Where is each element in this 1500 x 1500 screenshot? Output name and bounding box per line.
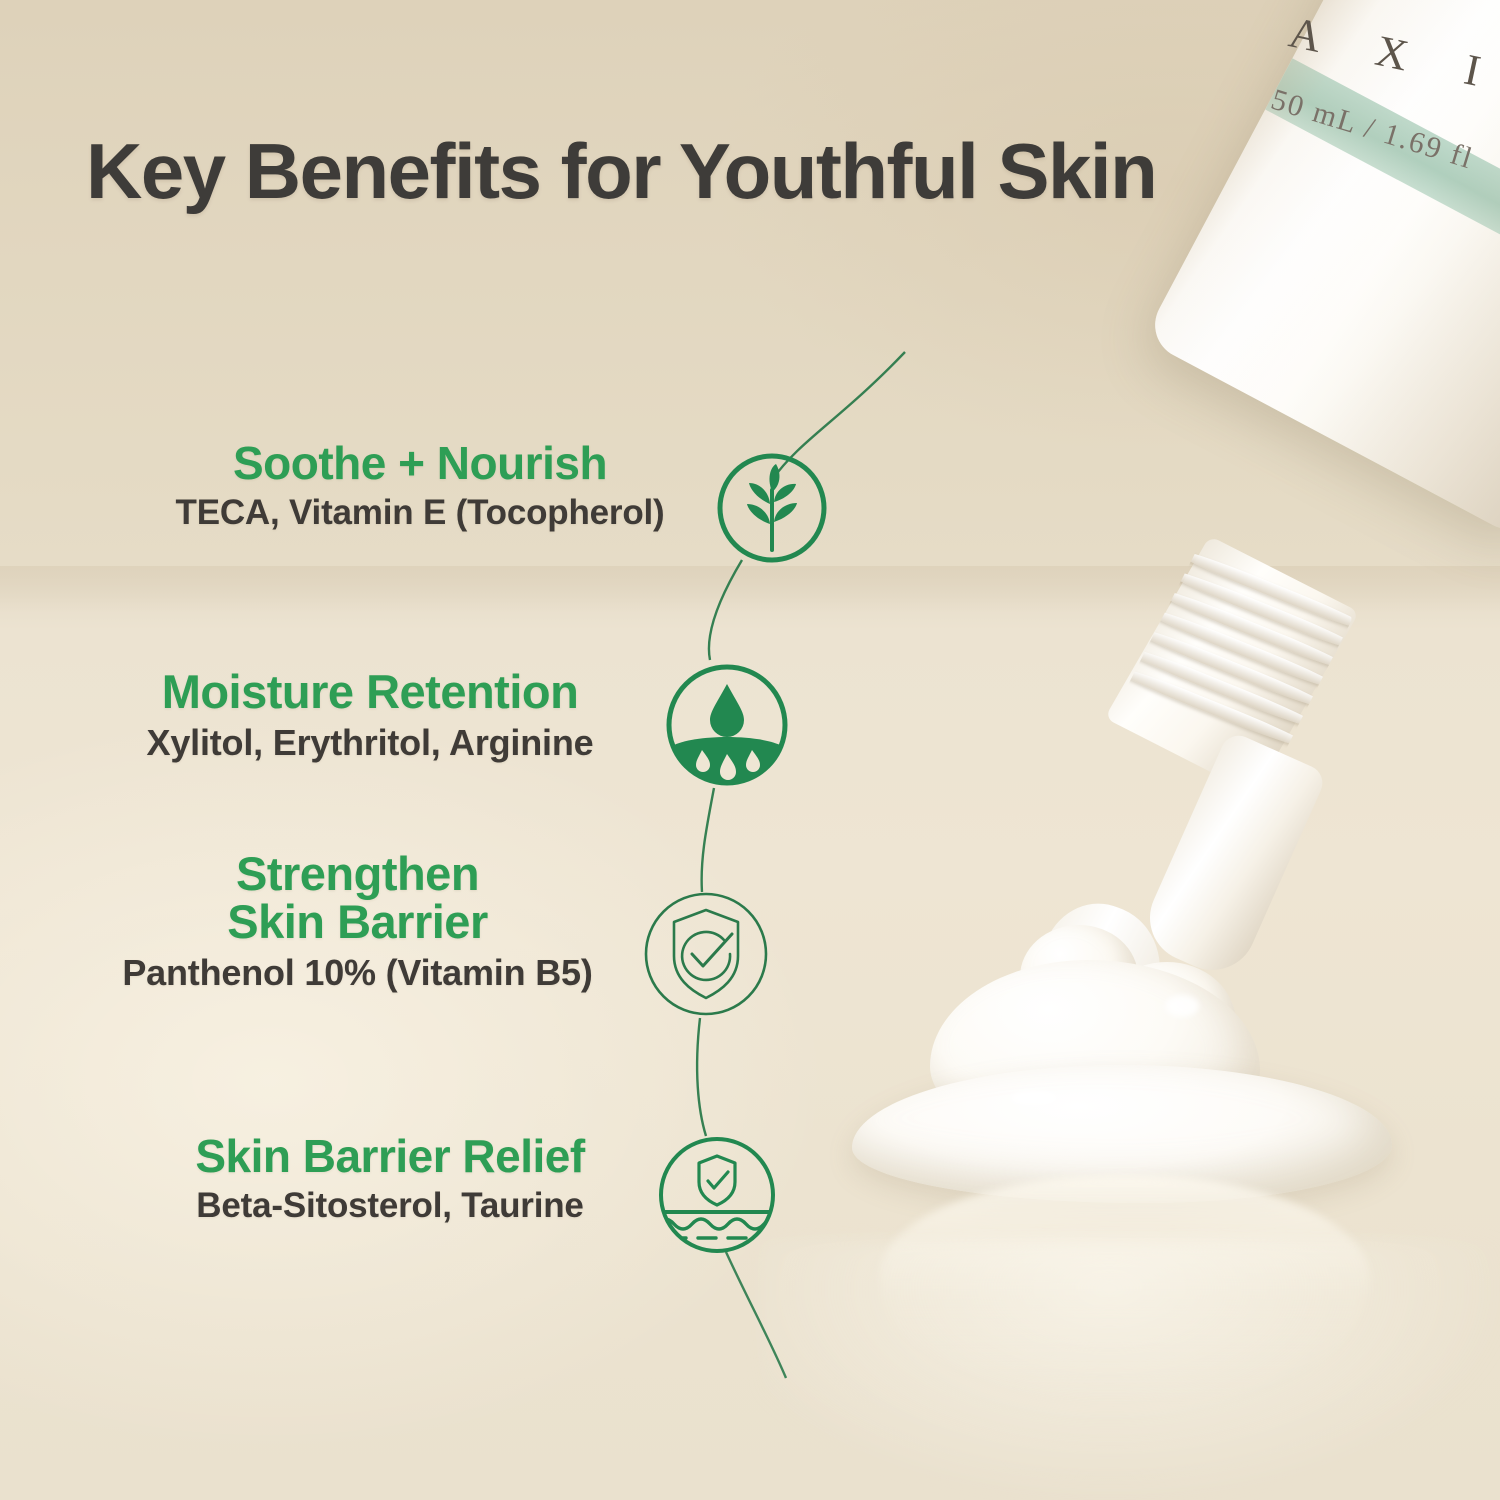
product-benefits-graphic: A X I S 50 mL / 1.69 fl Key Benefits for… <box>0 0 1500 1500</box>
benefit-item: Soothe + Nourish TECA, Vitamin E (Tocoph… <box>140 440 700 533</box>
shield-check-icon <box>642 890 770 1018</box>
benefit-item: Strengthen Skin Barrier Panthenol 10% (V… <box>75 850 640 994</box>
benefit-ingredients: Xylitol, Erythritol, Arginine <box>100 722 640 764</box>
benefit-title: Strengthen Skin Barrier <box>75 850 640 946</box>
benefit-ingredients: Panthenol 10% (Vitamin B5) <box>75 952 640 994</box>
benefit-title: Soothe + Nourish <box>140 440 700 487</box>
benefit-item: Moisture Retention Xylitol, Erythritol, … <box>100 668 640 764</box>
water-droplet-icon <box>664 662 790 788</box>
benefit-ingredients: Beta-Sitosterol, Taurine <box>130 1186 650 1226</box>
skin-layers-shield-icon <box>656 1134 778 1256</box>
leaf-sprig-icon <box>716 452 828 564</box>
benefits-list: Soothe + Nourish TECA, Vitamin E (Tocoph… <box>0 0 1500 1500</box>
benefit-title: Skin Barrier Relief <box>130 1133 650 1180</box>
benefit-title: Moisture Retention <box>100 668 640 716</box>
benefit-ingredients: TECA, Vitamin E (Tocopherol) <box>140 493 700 533</box>
benefit-item: Skin Barrier Relief Beta-Sitosterol, Tau… <box>130 1133 650 1226</box>
